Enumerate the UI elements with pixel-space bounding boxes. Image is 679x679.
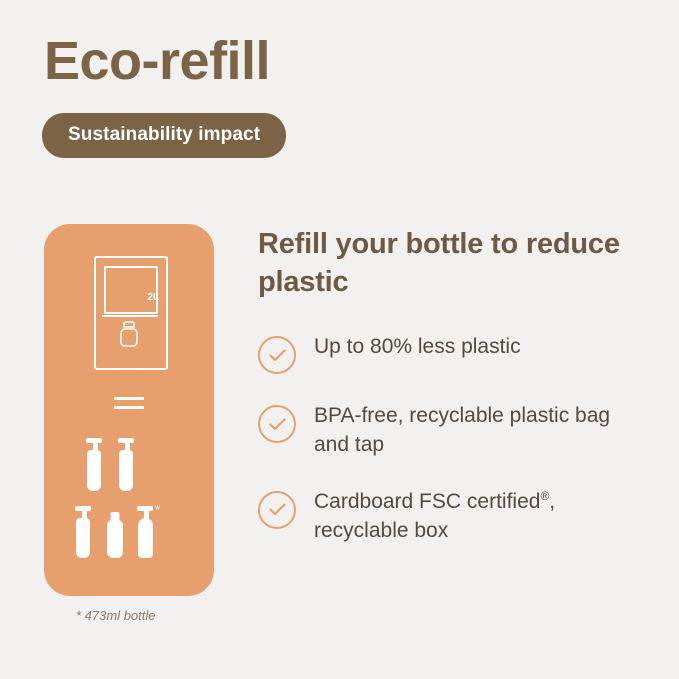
list-item-label: Cardboard FSC certified®, recyclable box — [314, 488, 644, 546]
illustration-card: 2L — [44, 224, 214, 596]
box-volume-label: 2L — [147, 292, 159, 303]
page-title: Eco-refill — [44, 30, 270, 92]
benefits-list: Up to 80% less plastic BPA-free, recycla… — [258, 333, 658, 574]
bottle-icon — [107, 512, 123, 558]
tap-icon — [118, 320, 140, 350]
equals-icon — [114, 397, 144, 415]
list-item: Up to 80% less plastic — [258, 333, 658, 374]
status-badge: Sustainability impact — [42, 113, 286, 158]
eco-refill-infographic: Eco-refill Sustainability impact 2L — [0, 0, 679, 679]
asterisk-icon: * — [155, 502, 160, 517]
box-window-icon — [104, 266, 158, 314]
pump-bottle-icon — [119, 438, 133, 491]
list-item-label: Up to 80% less plastic — [314, 333, 521, 362]
refill-box-icon: 2L — [94, 256, 168, 370]
list-item: Cardboard FSC certified®, recyclable box — [258, 488, 658, 546]
pump-bottle-icon — [87, 438, 101, 491]
registered-mark: ® — [540, 489, 549, 503]
footnote: * 473ml bottle — [76, 608, 156, 623]
list-item-text: Cardboard FSC certified — [314, 490, 540, 513]
check-icon — [258, 405, 296, 443]
list-item-label: BPA-free, recyclable plastic bag and tap — [314, 402, 644, 460]
check-icon — [258, 336, 296, 374]
box-divider — [102, 315, 158, 317]
pump-bottle-icon — [76, 506, 90, 558]
list-item: BPA-free, recyclable plastic bag and tap — [258, 402, 658, 460]
check-icon — [258, 491, 296, 529]
headline: Refill your bottle to reduce plastic — [258, 225, 628, 302]
pump-bottle-starred-icon — [138, 506, 153, 558]
